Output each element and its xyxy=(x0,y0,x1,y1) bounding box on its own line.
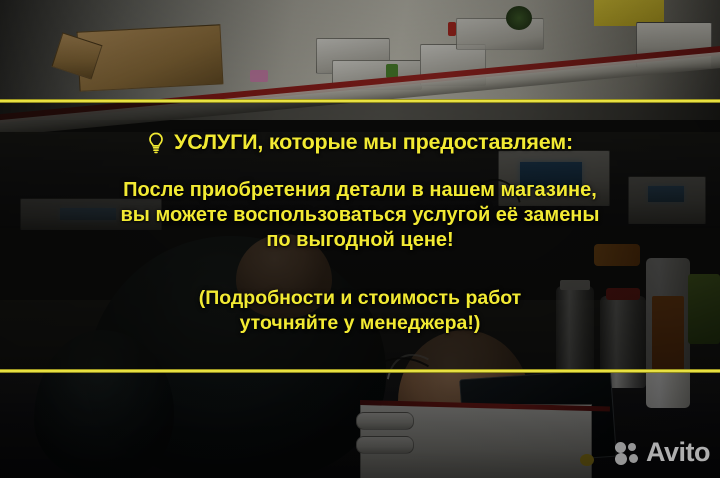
photo-cardboard-box xyxy=(77,24,224,91)
overlay-content: УСЛУГИ, которые мы предоставляем: После … xyxy=(0,103,720,369)
photo-panel-led xyxy=(580,454,594,466)
divider-rule-bottom xyxy=(0,369,720,373)
lightbulb-icon xyxy=(147,132,165,154)
note-text: (Подробности и стоимость работ уточняйте… xyxy=(199,286,521,336)
banner-image: УСЛУГИ, которые мы предоставляем: После … xyxy=(0,0,720,478)
body-line-1: После приобретения детали в нашем магази… xyxy=(121,178,600,203)
photo-plant xyxy=(506,6,532,30)
note-line-2: уточняйте у менеджера!) xyxy=(199,311,521,336)
photo-pink-item xyxy=(250,70,268,82)
body-text: После приобретения детали в нашем магази… xyxy=(121,178,600,253)
headline-text: УСЛУГИ, которые мы предоставляем: xyxy=(174,130,573,155)
headline: УСЛУГИ, которые мы предоставляем: xyxy=(147,130,573,155)
photo-red-item xyxy=(448,22,456,36)
body-line-2: вы можете воспользоваться услугой её зам… xyxy=(121,203,600,228)
note-line-1: (Подробности и стоимость работ xyxy=(199,286,521,311)
body-line-3: по выгодной цене! xyxy=(121,228,600,253)
